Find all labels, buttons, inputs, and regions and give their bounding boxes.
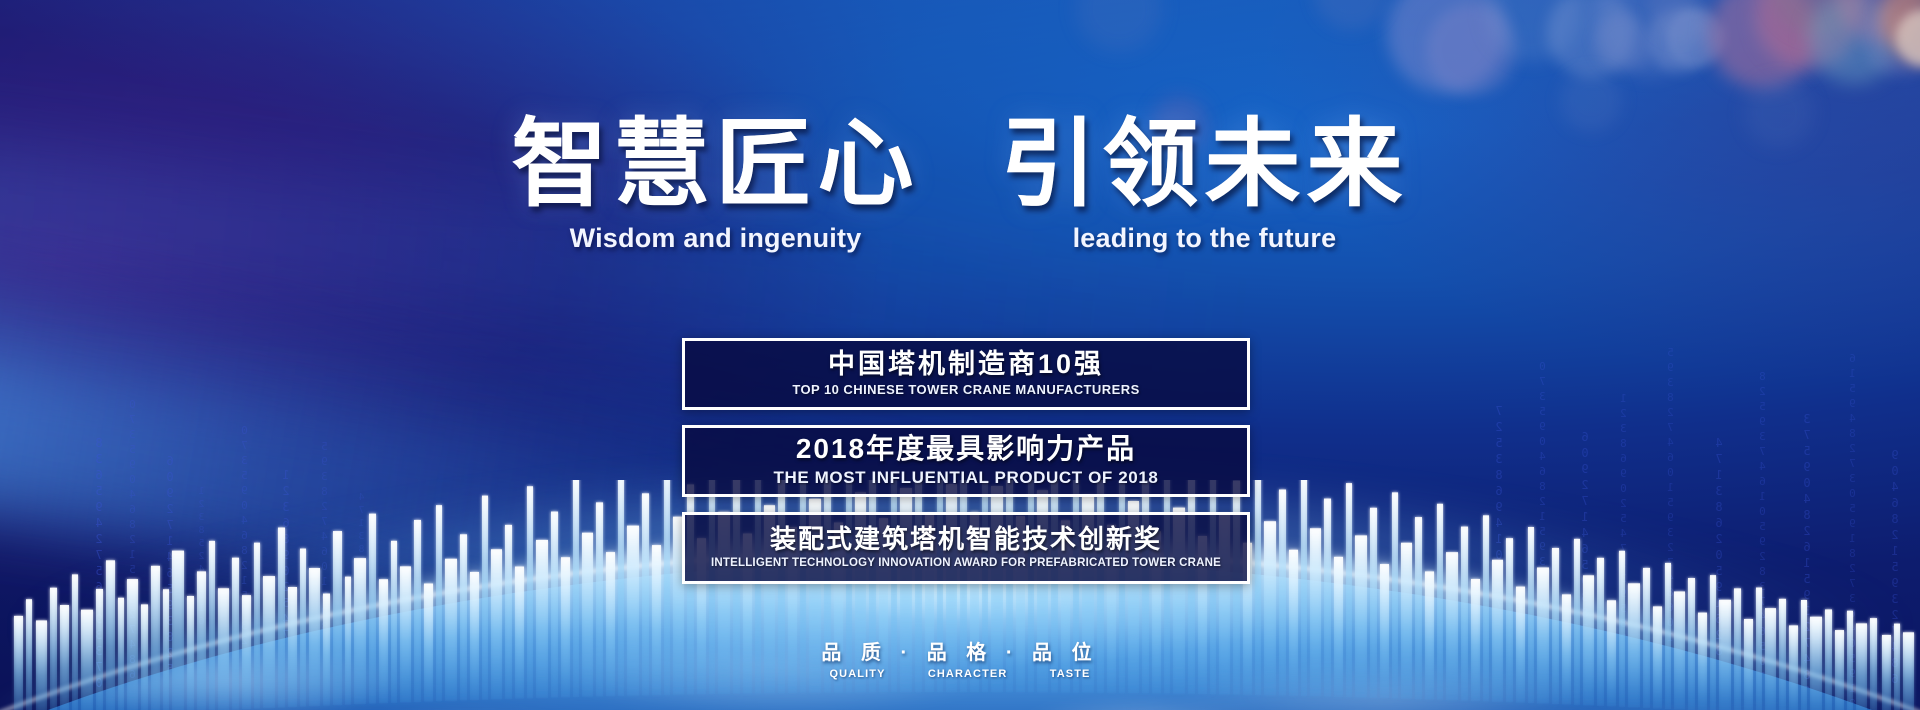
award-box-1: 中国塔机制造商10强 TOP 10 CHINESE TOWER CRANE MA… (682, 338, 1250, 410)
skyline-tower (300, 549, 306, 707)
skyline-tower (400, 566, 411, 702)
bokeh-circle (1314, 0, 1388, 30)
skyline-tower (254, 543, 260, 709)
skyline-tower (1552, 548, 1559, 704)
headline-left: 智慧匠心 Wisdom and ingenuity (512, 113, 920, 254)
skyline-tower (232, 558, 239, 710)
award-2-english: THE MOST INFLUENTIAL PRODUCT OF 2018 (774, 467, 1159, 489)
promotional-banner: 8365942756893370125469073590468215932748… (0, 0, 1920, 710)
headline-right-english: leading to the future (1000, 223, 1408, 254)
bokeh-circle (1076, 0, 1162, 52)
skyline-tower (1492, 560, 1503, 702)
award-list: 中国塔机制造商10强 TOP 10 CHINESE TOWER CRANE MA… (682, 338, 1250, 584)
award-2-chinese: 2018年度最具影响力产品 (796, 433, 1136, 464)
tagline-en-taste: TASTE (1050, 668, 1091, 680)
headline-right-chinese: 引领未来 (1000, 113, 1408, 217)
headline-right: 引领未来 leading to the future (1000, 113, 1408, 254)
headline-left-chinese: 智慧匠心 (512, 113, 920, 217)
skyline-tower (1597, 558, 1604, 706)
tagline-en-quality: QUALITY (830, 668, 886, 680)
award-1-chinese: 中国塔机制造商10强 (828, 349, 1104, 379)
bokeh-circle (1594, 14, 1652, 72)
skyline-tower (209, 541, 215, 710)
award-1-english: TOP 10 CHINESE TOWER CRANE MANUFACTURERS (792, 382, 1139, 399)
headline-block: 智慧匠心 Wisdom and ingenuity 引领未来 leading t… (0, 113, 1920, 254)
award-box-2: 2018年度最具影响力产品 THE MOST INFLUENTIAL PRODU… (682, 425, 1250, 497)
tagline-chinese: 品 质 · 品 格 · 品 位 (0, 636, 1920, 665)
award-3-english: INTELLIGENT TECHNOLOGY INNOVATION AWARD … (711, 556, 1221, 571)
skyline-tower (278, 528, 285, 708)
award-box-3: 装配式建筑塔机智能技术创新奖 INTELLIGENT TECHNOLOGY IN… (682, 512, 1250, 584)
skyline-tower (1619, 551, 1625, 707)
tagline-english: QUALITY CHARACTER TASTE (0, 668, 1920, 680)
skyline-tower (172, 551, 184, 710)
award-3-chinese: 装配式建筑塔机智能技术创新奖 (770, 525, 1162, 554)
skyline-tower (354, 558, 366, 704)
tagline-en-character: CHARACTER (928, 668, 1008, 680)
bottom-tagline: 品 质 · 品 格 · 品 位 QUALITY CHARACTER TASTE (0, 636, 1920, 680)
headline-left-english: Wisdom and ingenuity (512, 223, 920, 254)
